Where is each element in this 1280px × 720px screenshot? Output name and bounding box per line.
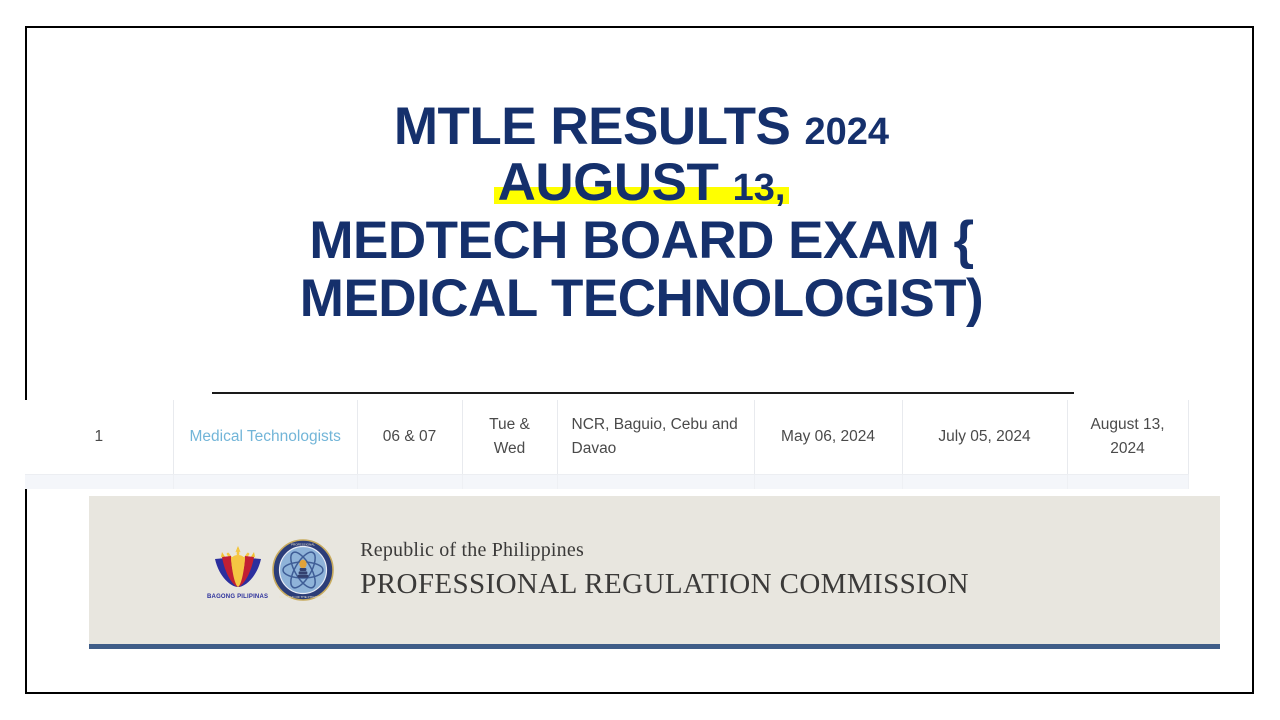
filler-cell xyxy=(1067,475,1188,490)
filler-cell xyxy=(557,475,754,490)
table-row[interactable]: 1 Medical Technologists 06 & 07 Tue & We… xyxy=(25,400,1188,475)
bagong-pilipinas-logo: BAGONG PILIPINAS xyxy=(207,541,268,600)
title-line-2-day: 13, xyxy=(733,167,786,209)
prc-banner-underline xyxy=(89,644,1220,649)
cell-end-filing: July 05, 2024 xyxy=(902,400,1067,475)
cell-venues: NCR, Baguio, Cebu and Davao xyxy=(557,400,754,475)
prc-banner-text: Republic of the Philippines PROFESSIONAL… xyxy=(360,539,969,601)
page-title: MTLE RESULTS 2024 AUGUST 13, MEDTECH BOA… xyxy=(27,100,1256,326)
filler-cell xyxy=(25,475,173,490)
title-line-1: MTLE RESULTS 2024 xyxy=(27,100,1256,154)
cell-exam-days: 06 & 07 xyxy=(357,400,462,475)
bagong-pilipinas-caption: BAGONG PILIPINAS xyxy=(207,594,268,600)
title-line-2-main: AUGUST xyxy=(498,153,733,212)
title-line-1-year: 2024 xyxy=(805,111,890,153)
prc-logo-group: BAGONG PILIPINAS xyxy=(207,539,334,601)
svg-text:PROFESSIONAL: PROFESSIONAL xyxy=(291,542,315,546)
prc-commission-line: PROFESSIONAL REGULATION COMMISSION xyxy=(360,568,969,601)
filler-cell xyxy=(754,475,902,490)
table-filler-row xyxy=(25,475,1188,490)
slide-frame: MTLE RESULTS 2024 AUGUST 13, MEDTECH BOA… xyxy=(25,26,1254,694)
exam-schedule-table: 1 Medical Technologists 06 & 07 Tue & We… xyxy=(25,400,1189,489)
title-line-1-main: MTLE RESULTS xyxy=(394,97,805,156)
bagong-pilipinas-icon xyxy=(209,541,267,593)
title-line-2: AUGUST 13, xyxy=(27,156,1256,210)
filler-cell xyxy=(462,475,557,490)
title-highlight: AUGUST 13, xyxy=(494,187,790,204)
filler-cell xyxy=(173,475,357,490)
title-line-4: MEDICAL TECHNOLOGIST) xyxy=(27,272,1256,326)
cell-release-date: August 13, 2024 xyxy=(1067,400,1188,475)
svg-text:REPUBLIC OF THE PHILIPPINES: REPUBLIC OF THE PHILIPPINES xyxy=(279,595,327,599)
title-line-3: MEDTECH BOARD EXAM { xyxy=(27,214,1256,268)
prc-seal-icon: PROFESSIONAL REPUBLIC OF THE PHILIPPINES xyxy=(272,539,334,601)
cell-row-number: 1 xyxy=(25,400,173,475)
prc-banner: BAGONG PILIPINAS xyxy=(89,496,1220,644)
cell-profession-link[interactable]: Medical Technologists xyxy=(173,400,357,475)
filler-cell xyxy=(357,475,462,490)
cell-start-filing: May 06, 2024 xyxy=(754,400,902,475)
cell-weekdays: Tue & Wed xyxy=(462,400,557,475)
prc-republic-line: Republic of the Philippines xyxy=(360,539,969,562)
title-divider-rule xyxy=(212,392,1074,394)
filler-cell xyxy=(902,475,1067,490)
